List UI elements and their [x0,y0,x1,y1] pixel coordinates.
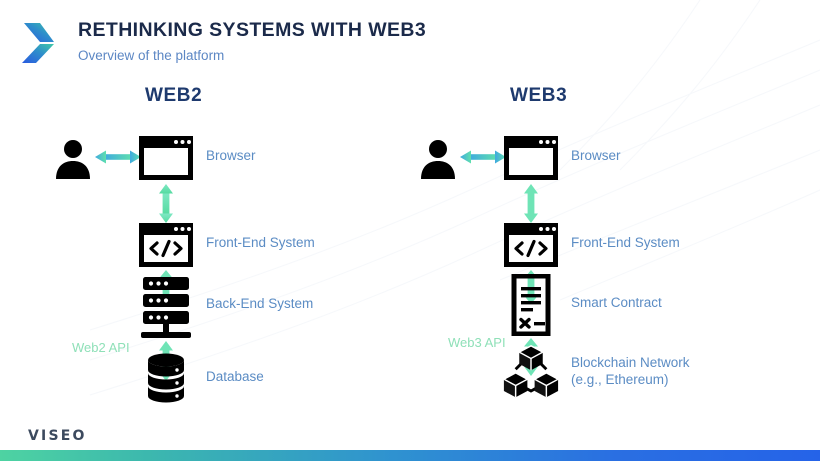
footer-gradient-bar [0,450,820,461]
contract-document-icon [503,274,559,336]
title-block: RETHINKING SYSTEMS WITH WEB3 Overview of… [78,20,426,64]
node-label-database-web2: Database [206,369,264,386]
column-web3: WEB3 [375,85,755,405]
column-heading-web2: WEB2 [145,85,202,107]
code-window-icon [503,222,559,268]
node-label-smart-contract-web3: Smart Contract [571,295,662,312]
node-label-backend-web2: Back-End System [206,296,313,313]
user-browser-link-arrow-icon [95,148,141,166]
user-browser-link-arrow-icon [460,148,506,166]
node-label-blockchain-web3: Blockchain Network (e.g., Ethereum) [571,355,690,389]
node-label-frontend-web2: Front-End System [206,235,315,252]
column-heading-web3: WEB3 [510,85,567,107]
vertical-arrow-browser-frontend-web2 [158,184,174,223]
column-web2: WEB2 [10,85,390,405]
server-rack-icon [138,275,194,341]
browser-window-icon [503,135,559,181]
slide-canvas: RETHINKING SYSTEMS WITH WEB3 Overview of… [0,0,820,461]
vertical-arrow-browser-frontend-web3 [523,184,539,223]
node-label-frontend-web3: Front-End System [571,235,680,252]
person-icon [52,137,94,179]
viseo-footer-logo: VISEO [28,428,87,444]
node-label-blockchain-line2: (e.g., Ethereum) [571,372,690,389]
node-label-blockchain-line1: Blockchain Network [571,355,690,372]
blockchain-cubes-icon [503,343,559,401]
node-label-browser-web2: Browser [206,148,256,165]
viseo-chevron-logo-icon [20,22,58,64]
browser-window-icon [138,135,194,181]
code-window-icon [138,222,194,268]
api-label-web3: Web3 API [448,335,506,350]
person-icon [417,137,459,179]
api-label-web2: Web2 API [72,340,130,355]
node-label-browser-web3: Browser [571,148,621,165]
page-subtitle: Overview of the platform [78,49,426,64]
page-title: RETHINKING SYSTEMS WITH WEB3 [78,20,426,41]
database-cylinder-icon [138,350,194,408]
slide-header: RETHINKING SYSTEMS WITH WEB3 Overview of… [0,0,820,80]
